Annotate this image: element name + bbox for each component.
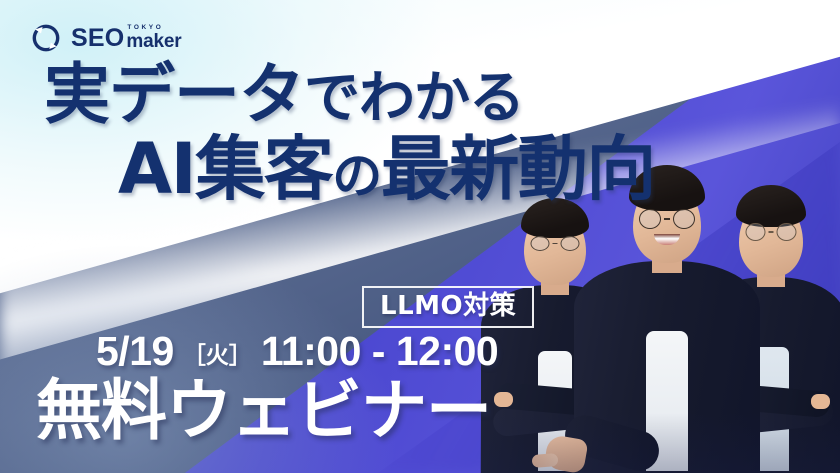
schedule-day-of-week: ［火］	[183, 345, 252, 368]
schedule-row: 5/19 ［火］ 11:00 - 12:00	[96, 331, 498, 372]
glasses-icon	[639, 209, 695, 229]
cta-title: 無料ウェビナー	[36, 378, 491, 444]
brand-name-seo: SEO	[71, 26, 124, 51]
speaker-center	[572, 173, 762, 473]
seo-maker-ring-icon	[30, 22, 62, 54]
glasses-lens-left	[531, 236, 550, 251]
brand-name-maker: maker	[126, 32, 181, 51]
speaker-center-hair	[629, 165, 705, 211]
glasses-bridge	[664, 218, 670, 220]
speaker-left-hand	[494, 392, 513, 407]
brand-wordmark: SEO TOKYO maker	[71, 25, 181, 52]
pointing-finger-icon	[532, 453, 559, 468]
speaker-right-hand	[811, 394, 830, 409]
schedule-date: 5/19	[96, 331, 174, 372]
status-badge-label: LLMO対策	[380, 291, 516, 321]
glasses-bridge	[553, 243, 558, 245]
glasses-lens-right	[777, 223, 797, 241]
glasses-lens-right	[673, 209, 695, 229]
glasses-lens-left	[639, 209, 661, 229]
schedule-time: 11:00 - 12:00	[261, 331, 498, 372]
status-badge: LLMO対策	[362, 286, 534, 328]
webinar-banner: SEO TOKYO maker 実データでわかる AI集客の最新動向	[0, 0, 840, 473]
brand-logo[interactable]: SEO TOKYO maker	[30, 22, 181, 54]
glasses-bridge	[769, 231, 774, 233]
